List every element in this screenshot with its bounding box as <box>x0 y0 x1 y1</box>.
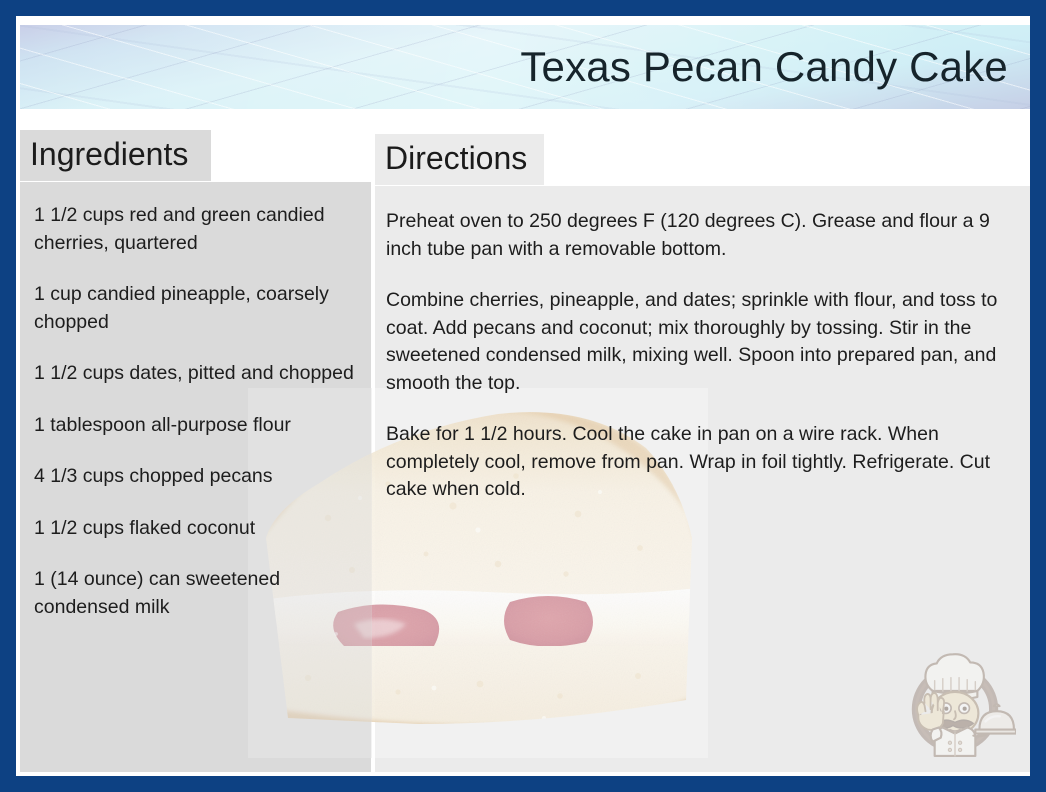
directions-heading: Directions <box>375 134 544 185</box>
ingredient-item: 1 (14 ounce) can sweetened condensed mil… <box>34 566 357 621</box>
direction-paragraph: Combine cherries, pineapple, and dates; … <box>386 287 1022 397</box>
ingredients-heading: Ingredients <box>20 130 211 181</box>
header-banner: Texas Pecan Candy Cake <box>20 25 1030 109</box>
ingredient-item: 1 tablespoon all-purpose flour <box>34 412 357 440</box>
ingredients-panel: 1 1/2 cups red and green candied cherrie… <box>20 182 371 772</box>
directions-heading-box: Directions <box>375 134 544 185</box>
recipe-card: Texas Pecan Candy Cake <box>0 0 1046 792</box>
ingredient-item: 4 1/3 cups chopped pecans <box>34 463 357 491</box>
ingredient-item: 1 cup candied pineapple, coarsely choppe… <box>34 281 357 336</box>
ingredient-item: 1 1/2 cups flaked coconut <box>34 515 357 543</box>
ingredient-item: 1 1/2 cups red and green candied cherrie… <box>34 202 357 257</box>
ingredient-item: 1 1/2 cups dates, pitted and chopped <box>34 360 357 388</box>
direction-paragraph: Preheat oven to 250 degrees F (120 degre… <box>386 208 1022 263</box>
direction-paragraph: Bake for 1 1/2 hours. Cool the cake in p… <box>386 421 1022 504</box>
chef-logo-icon <box>894 636 1016 758</box>
page-title: Texas Pecan Candy Cake <box>520 43 1008 91</box>
ingredients-heading-box: Ingredients <box>20 130 211 181</box>
